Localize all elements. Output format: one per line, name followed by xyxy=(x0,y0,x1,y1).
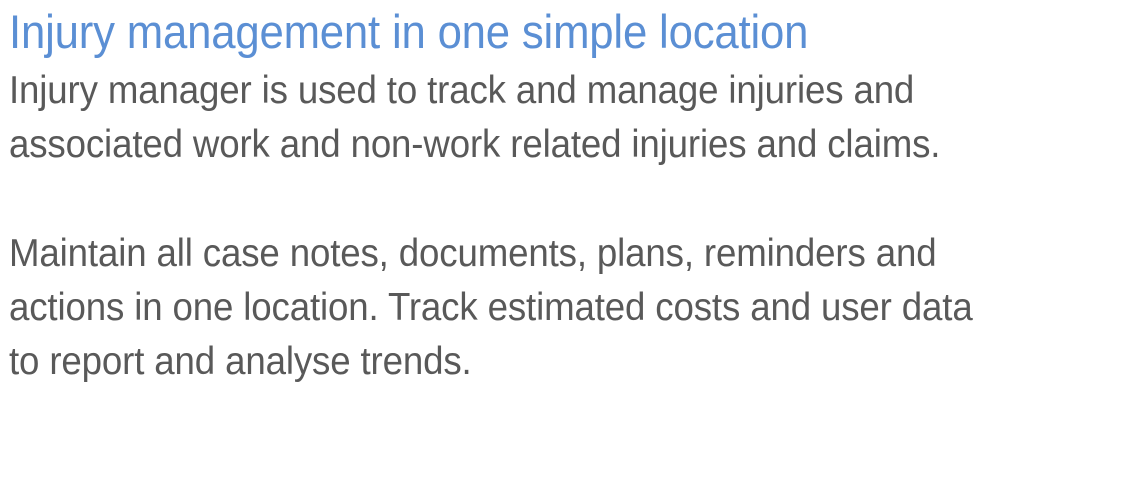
paragraph-2-line-3: to report and analyse trends. xyxy=(9,335,1062,389)
paragraph-1-line-1: Injury manager is used to track and mana… xyxy=(9,64,1062,118)
paragraph-2-line-2: actions in one location. Track estimated… xyxy=(9,281,1062,335)
paragraph-2-line-1: Maintain all case notes, documents, plan… xyxy=(9,227,1062,281)
paragraph-1: Injury manager is used to track and mana… xyxy=(9,64,1062,172)
feature-text-panel: Injury management in one simple location… xyxy=(0,0,1134,491)
paragraph-2: Maintain all case notes, documents, plan… xyxy=(9,227,1062,389)
feature-content: Injury management in one simple location… xyxy=(9,0,1129,389)
paragraph-spacer xyxy=(9,172,1062,227)
paragraph-1-line-2: associated work and non-work related inj… xyxy=(9,118,1062,172)
feature-description: Injury manager is used to track and mana… xyxy=(9,64,1062,389)
page-title: Injury management in one simple location xyxy=(9,0,1051,64)
